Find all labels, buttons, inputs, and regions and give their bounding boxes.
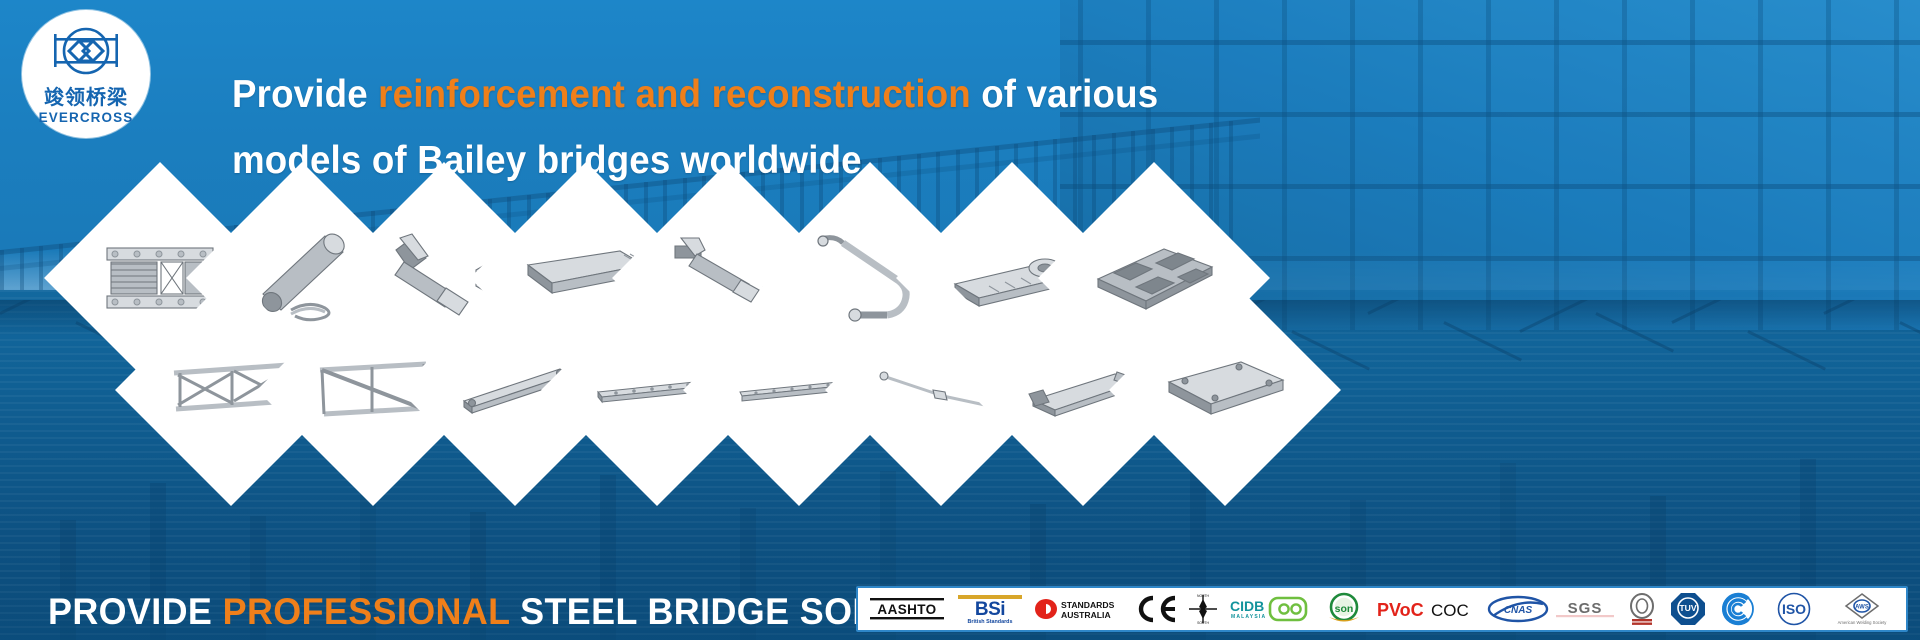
- brand-name-english: EVERCROSS: [39, 111, 134, 125]
- svg-text:ISO: ISO: [1782, 601, 1806, 617]
- page-title: Provide reinforcement and reconstruction…: [232, 62, 1407, 194]
- ccc-china-compulsory-logo: [1715, 589, 1761, 629]
- svg-text:son: son: [1335, 603, 1354, 615]
- svg-text:AWS: AWS: [1855, 605, 1869, 611]
- svg-text:CNAS: CNAS: [1503, 605, 1532, 616]
- svg-text:American Welding Society: American Welding Society: [1837, 620, 1887, 625]
- svg-text:NORTH: NORTH: [1197, 594, 1210, 598]
- headline-line1-post: of various: [971, 73, 1158, 116]
- cidb-malaysia-logo: CIDB MALAYSIA: [1228, 589, 1314, 629]
- son-nigeria-logo: son: [1321, 589, 1367, 629]
- headline-line2: models of Bailey bridges worldwide: [232, 139, 862, 182]
- iso-logo: ISO: [1768, 589, 1820, 629]
- promotional-banner: 竣领桥梁 EVERCROSS Provide reinforcement and…: [0, 0, 1920, 640]
- compass-mark-logo: NORTH SOUTH: [1186, 589, 1220, 629]
- svg-text:SGS: SGS: [1568, 600, 1603, 617]
- headline-line1-pre: Provide: [232, 73, 378, 116]
- footer-tagline-pre: PROVIDE: [48, 591, 223, 632]
- svg-text:SOUTH: SOUTH: [1197, 621, 1209, 625]
- base-pad-icon: [1150, 315, 1300, 465]
- svg-text:TUV: TUV: [1680, 603, 1697, 613]
- svg-text:CIDB: CIDB: [1230, 598, 1264, 614]
- quality-seal-logo: [1622, 589, 1662, 629]
- svg-text:STANDARDS: STANDARDS: [1061, 600, 1115, 610]
- svg-text:AUSTRALIA: AUSTRALIA: [1061, 610, 1111, 620]
- svg-text:PVoC: PVoC: [1377, 600, 1424, 620]
- pvoc-coc-logo: PVoC COC: [1375, 589, 1479, 629]
- svg-text:COC: COC: [1431, 601, 1469, 620]
- bsi-logo: BSi British Standards: [954, 589, 1026, 629]
- certification-logo-strip: AASHTO BSi British Standards STANDARDS A…: [856, 586, 1908, 632]
- svg-text:MALAYSIA: MALAYSIA: [1231, 614, 1266, 620]
- evercross-interlocking-bridge-logo: [43, 23, 129, 84]
- product-diamond-gallery: [0, 186, 1920, 466]
- svg-text:BSi: BSi: [974, 599, 1004, 620]
- svg-text:AASHTO: AASHTO: [877, 602, 936, 617]
- svg-text:British Standards: British Standards: [967, 619, 1012, 625]
- tuv-logo: TUV: [1669, 589, 1707, 629]
- aashto-logo: AASHTO: [868, 589, 946, 629]
- footer-tagline-accent: PROFESSIONAL: [223, 591, 510, 632]
- brand-name-chinese: 竣领桥梁: [44, 87, 128, 107]
- cnas-logo: CNAS: [1487, 589, 1549, 629]
- headline-line1-accent: reinforcement and reconstruction: [378, 73, 971, 116]
- standards-australia-logo: STANDARDS AUSTRALIA: [1033, 589, 1125, 629]
- brand-logo-badge[interactable]: 竣领桥梁 EVERCROSS: [22, 10, 150, 138]
- sgs-logo: SGS: [1556, 589, 1614, 629]
- ce-marking-logo: [1133, 589, 1179, 629]
- aws-american-welding-society-logo: AWS American Welding Society: [1828, 589, 1896, 629]
